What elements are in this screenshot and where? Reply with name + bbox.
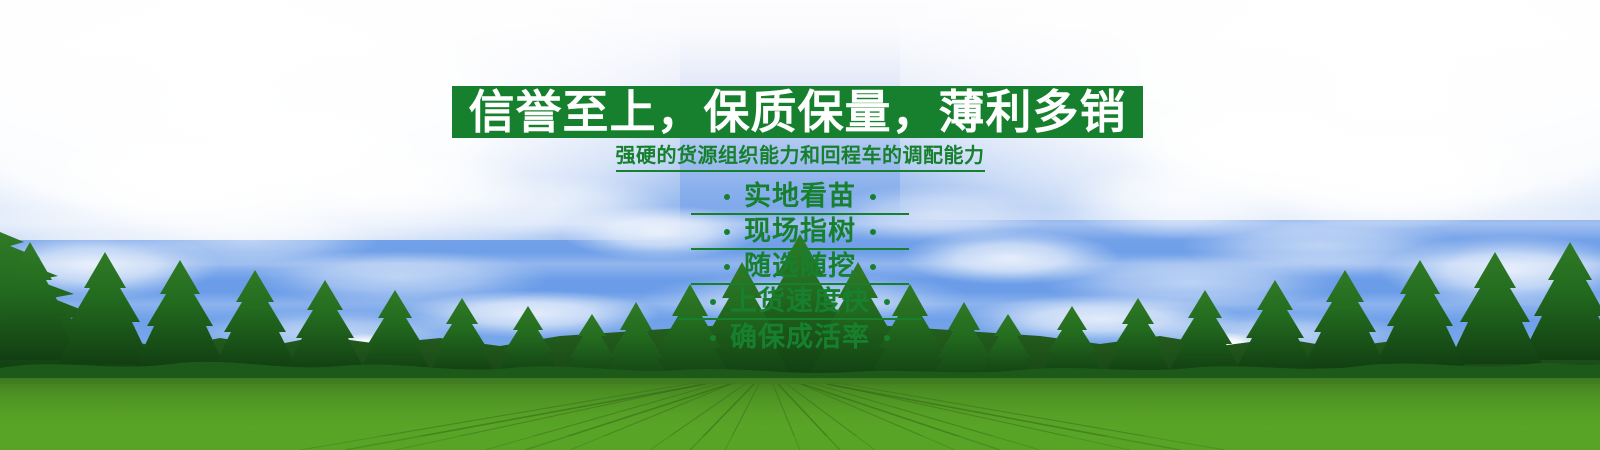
subtitle-block: 强硬的货源组织能力和回程车的调配能力 (0, 143, 1600, 172)
bullet-dot-icon (884, 299, 890, 305)
feature-row: 上货速度快 (678, 285, 922, 320)
feature-label: 随选随挖 (744, 253, 856, 280)
crop-field (0, 378, 1600, 450)
field-furrows (0, 378, 1600, 450)
feature-row: 随选随挖 (691, 250, 909, 285)
headline-banner: 信誉至上，保质保量，薄利多销 (452, 86, 1143, 138)
hero-banner: 信誉至上，保质保量，薄利多销 强硬的货源组织能力和回程车的调配能力 实地看苗 现… (0, 0, 1600, 450)
feature-label: 上货速度快 (730, 288, 870, 315)
subtitle-text: 强硬的货源组织能力和回程车的调配能力 (616, 143, 985, 172)
bullet-dot-icon (710, 335, 716, 341)
bullet-dot-icon (724, 194, 730, 200)
bullet-dot-icon (870, 194, 876, 200)
feature-row: 实地看苗 (691, 180, 909, 215)
headline-text: 信誉至上，保质保量，薄利多销 (469, 89, 1127, 135)
feature-label: 确保成活率 (730, 324, 870, 351)
bullet-dot-icon (724, 229, 730, 235)
feature-row: 确保成活率 (678, 320, 922, 355)
bullet-dot-icon (724, 264, 730, 270)
feature-label: 实地看苗 (744, 183, 856, 210)
feature-row: 现场指树 (691, 215, 909, 250)
feature-list: 实地看苗 现场指树 随选随挖 上货速度快 确保成活率 (0, 180, 1600, 355)
feature-label: 现场指树 (744, 218, 856, 245)
bullet-dot-icon (884, 335, 890, 341)
bullet-dot-icon (710, 299, 716, 305)
bullet-dot-icon (870, 229, 876, 235)
bullet-dot-icon (870, 264, 876, 270)
